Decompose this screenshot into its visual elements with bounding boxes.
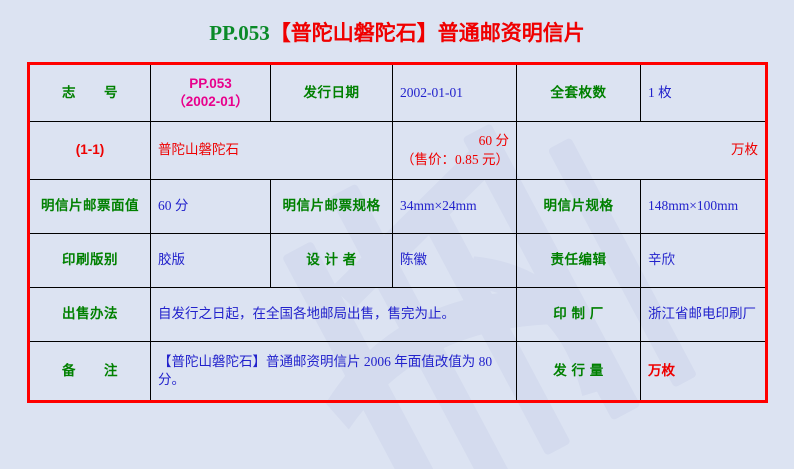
page-title-code: PP.053 (209, 21, 269, 45)
table-row: (1-1) 普陀山磐陀石 60 分（售价：0.85 元） 万枚 (29, 122, 767, 180)
value-cell-remarks: 【普陀山磐陀石】普通邮资明信片 2006 年面值改值为 80 分。 (151, 342, 517, 402)
label-cell-issue-date: 发行日期 (271, 64, 393, 122)
page-title: PP.053【普陀山磐陀石】普通邮资明信片 (0, 17, 794, 47)
postcard-info-page: PP.053【普陀山磐陀石】普通邮资明信片 志 号 PP.053（2002-01… (0, 0, 794, 469)
table-row: 志 号 PP.053（2002-01） 发行日期 2002-01-01 全套枚数… (29, 64, 767, 122)
value-cell-item-quantity: 万枚 (517, 122, 767, 180)
value-cell-designer: 陈徽 (393, 234, 517, 288)
value-cell-print-quantity: 万枚 (641, 342, 767, 402)
label-cell-postcard-size: 明信片规格 (517, 180, 641, 234)
value-cell-sales-method: 自发行之日起，在全国各地邮局出售，售完为止。 (151, 288, 517, 342)
value-cell-catalog-number: PP.053（2002-01） (151, 64, 271, 122)
label-cell-sales-method: 出售办法 (29, 288, 151, 342)
value-cell-printer: 浙江省邮电印刷厂 (641, 288, 767, 342)
specification-table: 志 号 PP.053（2002-01） 发行日期 2002-01-01 全套枚数… (27, 62, 768, 403)
value-cell-stamp-face-value: 60 分 (151, 180, 271, 234)
value-cell-editor: 辛欣 (641, 234, 767, 288)
label-cell-print-quantity: 发 行 量 (517, 342, 641, 402)
label-cell-editor: 责任编辑 (517, 234, 641, 288)
label-cell-printing-process: 印刷版别 (29, 234, 151, 288)
value-cell-set-count: 1 枚 (641, 64, 767, 122)
table-row: 印刷版别 胶版 设 计 者 陈徽 责任编辑 辛欣 (29, 234, 767, 288)
label-cell-stamp-face-value: 明信片邮票面值 (29, 180, 151, 234)
label-cell-catalog-number: 志 号 (29, 64, 151, 122)
label-cell-stamp-size: 明信片邮票规格 (271, 180, 393, 234)
table-row: 出售办法 自发行之日起，在全国各地邮局出售，售完为止。 印 制 厂 浙江省邮电印… (29, 288, 767, 342)
value-cell-postcard-size: 148mm×100mm (641, 180, 767, 234)
table-row: 备 注 【普陀山磐陀石】普通邮资明信片 2006 年面值改值为 80 分。 发 … (29, 342, 767, 402)
value-cell-issue-date: 2002-01-01 (393, 64, 517, 122)
table-row: 明信片邮票面值 60 分 明信片邮票规格 34mm×24mm 明信片规格 148… (29, 180, 767, 234)
label-cell-printer: 印 制 厂 (517, 288, 641, 342)
value-cell-printing-process: 胶版 (151, 234, 271, 288)
value-cell-stamp-size: 34mm×24mm (393, 180, 517, 234)
label-cell-set-count: 全套枚数 (517, 64, 641, 122)
value-cell-item-index: (1-1) (29, 122, 151, 180)
label-cell-remarks: 备 注 (29, 342, 151, 402)
value-cell-item-name: 普陀山磐陀石 (151, 122, 393, 180)
value-cell-item-price: 60 分（售价：0.85 元） (393, 122, 517, 180)
label-cell-designer: 设 计 者 (271, 234, 393, 288)
page-title-name: 【普陀山磐陀石】普通邮资明信片 (270, 21, 585, 45)
